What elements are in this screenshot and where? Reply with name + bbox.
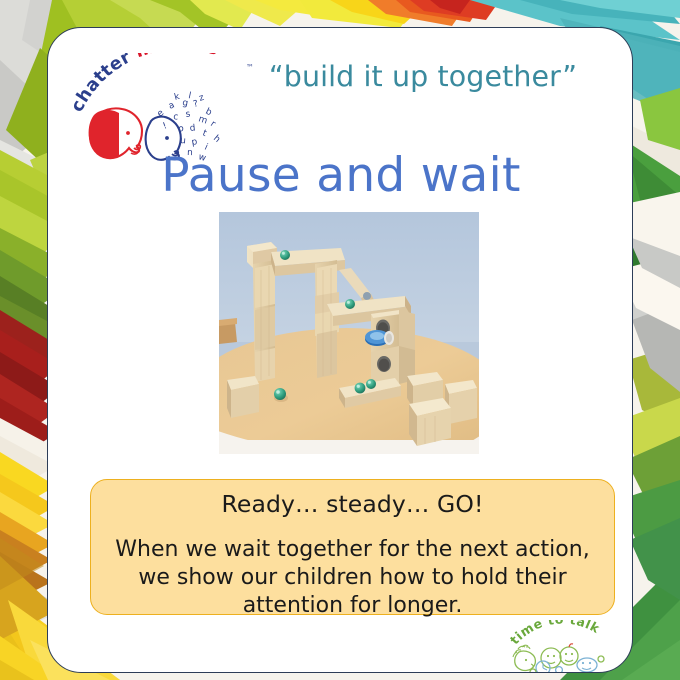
marble-icon bbox=[345, 299, 355, 309]
svg-text:?: ? bbox=[192, 99, 199, 110]
svg-text:k: k bbox=[173, 92, 181, 103]
svg-text:u: u bbox=[180, 136, 186, 146]
page-title: Pause and wait bbox=[48, 148, 633, 203]
loose-block-left bbox=[227, 376, 259, 418]
svg-text:c: c bbox=[173, 112, 179, 123]
ramp-end-fitting-icon bbox=[363, 292, 371, 300]
svg-text:s: s bbox=[185, 109, 191, 120]
marble-icon bbox=[274, 388, 286, 400]
marble-icon bbox=[366, 379, 376, 389]
blue-funnel-icon bbox=[365, 330, 394, 346]
time-to-talk-logo-graphic: time to talk bbox=[507, 620, 615, 673]
wooden-block-marble-run-photo bbox=[219, 212, 479, 454]
content-card: chatter matters ™ bbox=[47, 27, 633, 673]
svg-text:m: m bbox=[197, 114, 208, 126]
logo-word-chatter: chatter bbox=[74, 53, 134, 115]
faces-group-icon bbox=[513, 644, 604, 673]
ttt-word-time: time bbox=[507, 620, 545, 647]
svg-text:o: o bbox=[178, 124, 185, 135]
ttt-word-to: to bbox=[546, 620, 564, 628]
message-headline: Ready… steady… GO! bbox=[107, 489, 598, 519]
svg-text:z: z bbox=[198, 93, 206, 104]
marble-icon bbox=[355, 383, 366, 394]
ttt-word-talk: talk bbox=[569, 620, 603, 636]
svg-text:t: t bbox=[201, 129, 208, 140]
svg-text:chatter matters: chatter matters bbox=[74, 53, 221, 115]
time-to-talk-logo: time to talk bbox=[507, 620, 615, 673]
svg-text:h: h bbox=[211, 134, 222, 145]
svg-text:time to talk: time to talk bbox=[507, 620, 603, 647]
slide-canvas: chatter matters ™ bbox=[0, 0, 680, 680]
loose-block-cube-front bbox=[409, 398, 451, 446]
photo-illustration bbox=[219, 212, 479, 454]
svg-text:d: d bbox=[189, 123, 196, 134]
message-body: When we wait together for the next actio… bbox=[107, 536, 598, 620]
tagline: “build it up together” bbox=[228, 60, 618, 93]
svg-text:!: ! bbox=[162, 121, 169, 132]
svg-text:r: r bbox=[208, 119, 217, 130]
svg-text:p: p bbox=[191, 137, 199, 148]
marble-icon bbox=[280, 250, 290, 260]
logo-word-matters: matters bbox=[133, 53, 221, 62]
message-box: Ready… steady… GO! When we wait together… bbox=[90, 479, 615, 615]
